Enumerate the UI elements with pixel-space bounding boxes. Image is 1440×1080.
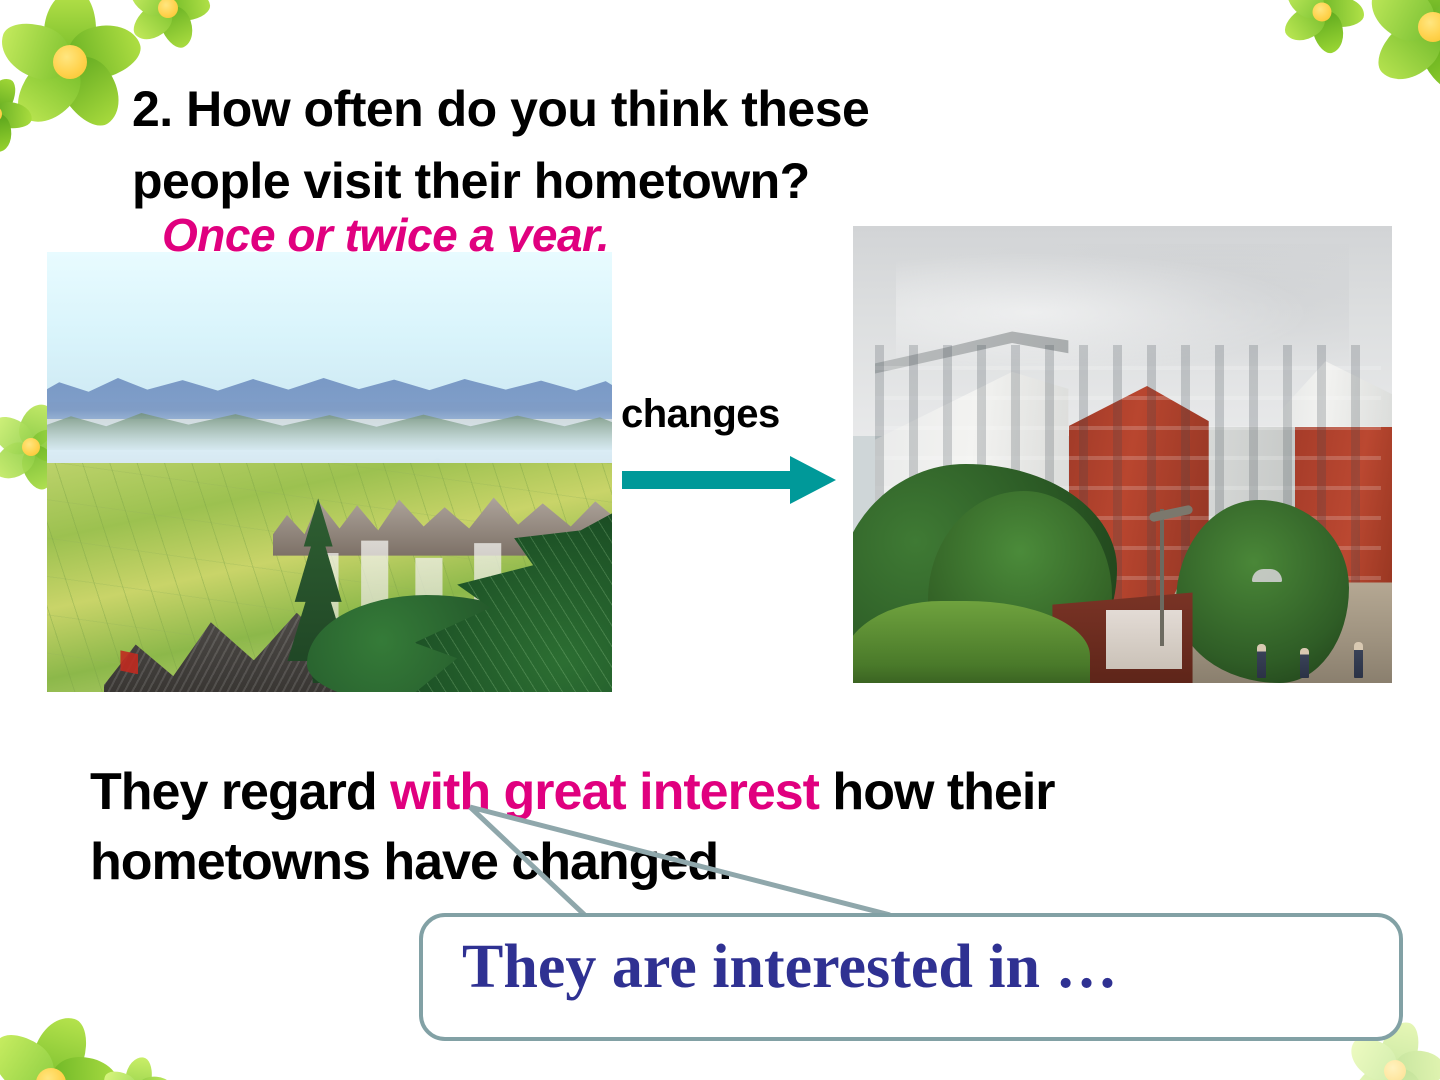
photo-after-modern-housing [853,226,1392,683]
pavilion-panel [1106,610,1181,669]
street-lamp-post [1160,509,1164,646]
callout-text: They are interested in … [462,932,1362,1003]
flower-icon [1274,0,1370,60]
statement-part1: They regard [90,763,390,821]
umbrella-icon [1252,569,1282,582]
question-line-1: 2. How often do you think these [132,80,869,138]
flower-icon [1358,0,1440,102]
decor-flowers-bottom-left [0,968,178,1080]
question-line-2: people visit their hometown? [132,152,810,210]
pedestrian [1300,648,1309,678]
changes-label: changes [621,392,780,437]
flower-icon [0,1008,126,1080]
pedestrian [1354,642,1363,678]
sky-layer [47,252,612,402]
pedestrian [1257,644,1266,678]
flower-icon [96,1052,178,1080]
decor-flowers-top-right [1262,0,1440,146]
photo-before-rural-village [47,252,612,692]
slide-canvas: 2. How often do you think these people v… [0,0,1440,1080]
flower-icon [0,72,36,156]
red-flag [120,650,138,674]
flower-icon [0,0,150,142]
right-arrow-icon [622,452,842,508]
callout-pointer [430,795,900,930]
flower-icon [120,0,216,56]
